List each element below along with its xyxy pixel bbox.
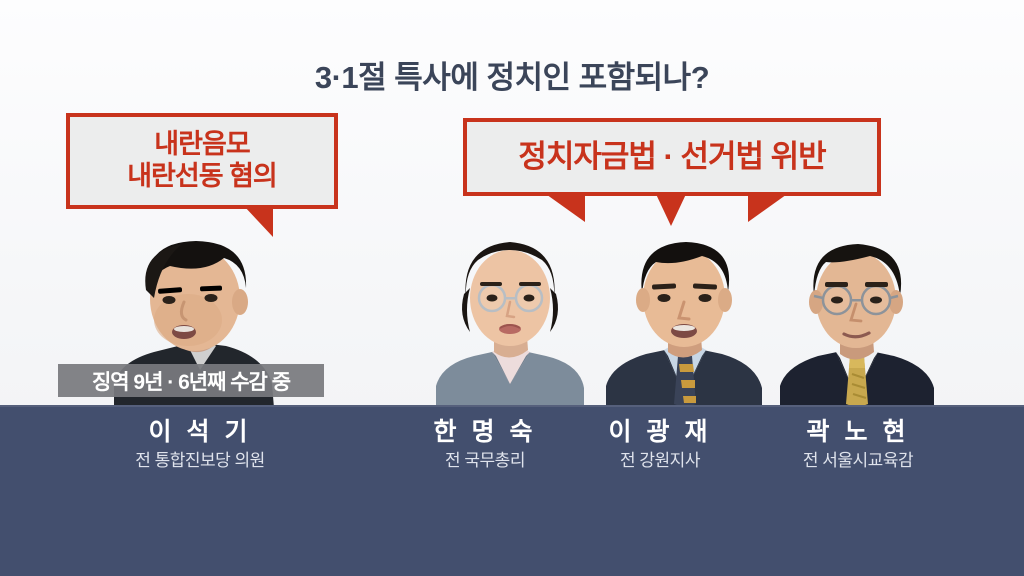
portrait-illustration-2 (430, 232, 590, 408)
bubble-tail-right-2 (655, 192, 687, 226)
name-block-1: 이 석 기 전 통합진보당 의원 (90, 419, 310, 470)
person-role-3: 전 강원지사 (570, 452, 750, 471)
charge-bubble-left-line2: 내란선동 혐의 (127, 161, 277, 193)
person-name-1: 이 석 기 (90, 419, 310, 447)
portrait-illustration-3 (604, 236, 768, 408)
person-role-1: 전 통합진보당 의원 (90, 452, 310, 471)
name-block-4: 곽 노 현 전 서울시교육감 (748, 419, 968, 470)
person-name-3: 이 광 재 (570, 419, 750, 447)
person-name-2: 한 명 숙 (395, 419, 575, 447)
portrait-illustration-4 (778, 238, 938, 408)
page-title: 3·1절 특사에 정치인 포함되나? (0, 52, 1024, 97)
news-graphic-canvas: 3·1절 특사에 정치인 포함되나? 내란음모 내란선동 혐의 정치자금법 · … (0, 0, 1024, 576)
charge-bubble-left: 내란음모 내란선동 혐의 (66, 113, 338, 209)
charge-bubble-left-line1: 내란음모 (127, 129, 277, 161)
portrait-person-3 (604, 236, 768, 408)
status-badge: 징역 9년 · 6년째 수감 중 (58, 364, 324, 397)
name-block-3: 이 광 재 전 강원지사 (570, 419, 750, 470)
charge-bubble-right: 정치자금법 · 선거법 위반 (463, 118, 881, 196)
band-divider (0, 405, 1024, 407)
portrait-person-2 (430, 232, 590, 408)
person-role-2: 전 국무총리 (395, 452, 575, 471)
name-block-2: 한 명 숙 전 국무총리 (395, 419, 575, 470)
bubble-tail-left (243, 205, 273, 237)
bubble-tail-right-1 (543, 192, 585, 222)
person-role-4: 전 서울시교육감 (748, 452, 968, 471)
bubble-tail-right-3 (748, 192, 790, 222)
name-band: 이 석 기 전 통합진보당 의원 한 명 숙 전 국무총리 이 광 재 전 강원… (0, 405, 1024, 576)
person-name-4: 곽 노 현 (748, 419, 968, 447)
portrait-person-4 (778, 238, 938, 408)
